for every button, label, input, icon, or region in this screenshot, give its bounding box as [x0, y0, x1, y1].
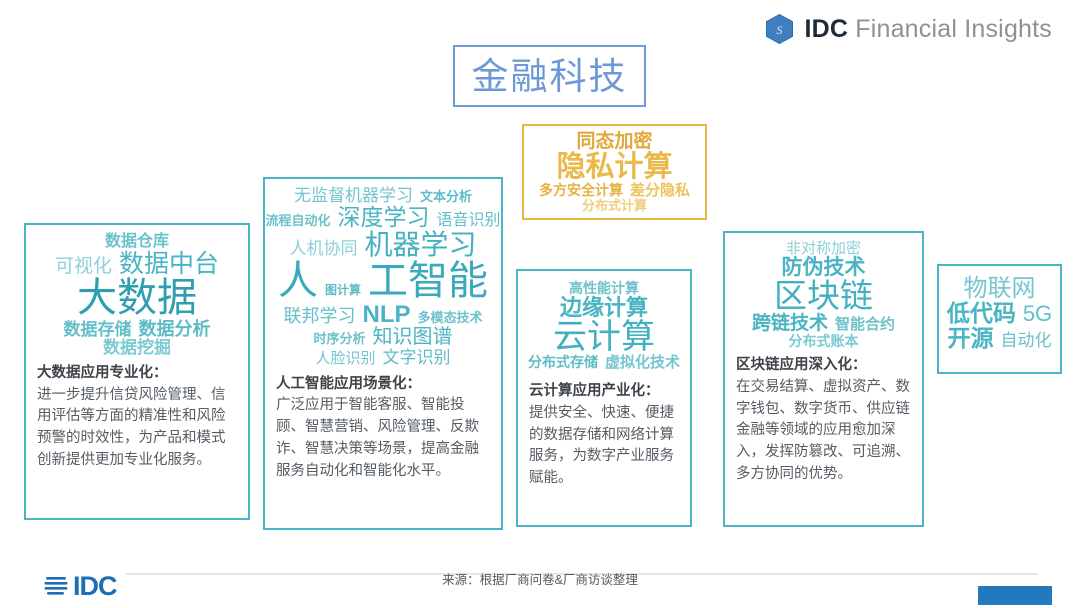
wordcloud-big-data: 数据仓库可视化数据中台大数据数据存储数据分析数据挖掘 [26, 225, 248, 357]
wordcloud-term: 工智能 [368, 260, 488, 302]
card-text-blockchain: 在交易结算、虚拟资产、数字钱包、数字货币、供应链金融等领域的应用愈加深入，发挥防… [736, 377, 911, 486]
idc-hexagon-logo-icon: S [766, 14, 793, 44]
wordcloud-line: 云计算 [518, 319, 690, 355]
brand-light-text: Financial Insights [848, 15, 1052, 43]
card-artificial-intelligence[interactable]: 无监督机器学习文本分析流程自动化深度学习语音识别人机协同机器学习人图计算工智能联… [263, 177, 503, 530]
footer-accent-block [978, 586, 1052, 605]
card-heading-cloud-computing: 云计算应用产业化： [529, 381, 679, 403]
card-body-big-data: 大数据应用专业化： 进一步提升信贷风险管理、信用评估等方面的精准性和风险预警的时… [26, 363, 248, 472]
wordcloud-term: 分布式账本 [789, 334, 859, 349]
wordcloud-line: 非对称加密 [725, 241, 922, 257]
wordcloud-line: 开源自动化 [939, 326, 1060, 350]
wordcloud-term: 无监督机器学习 [294, 187, 413, 205]
card-privacy-computing[interactable]: 同态加密隐私计算多方安全计算差分隐私分布式计算 [522, 124, 707, 220]
wordcloud-line: 人机协同机器学习 [265, 230, 501, 260]
wordcloud-line: 低代码5G [939, 301, 1060, 325]
wordcloud-term: 联邦学习 [283, 307, 355, 326]
wordcloud-term: 隐私计算 [556, 152, 672, 183]
wordcloud-line: 高性能计算 [518, 281, 690, 296]
card-iot-others[interactable]: 物联网低代码5G开源自动化 [937, 264, 1062, 374]
wordcloud-line: 人脸识别文字识别 [265, 349, 501, 367]
wordcloud-line: 边缘计算 [518, 296, 690, 319]
card-body-cloud-computing: 云计算应用产业化： 提供安全、快速、便捷的数据存储和网络计算服务，为数字产业服务… [518, 381, 690, 490]
wordcloud-term: 多方安全计算 [539, 183, 623, 198]
wordcloud-line: 分布式账本 [725, 334, 922, 349]
wordcloud-term: 大数据 [77, 277, 197, 319]
page-title: 金融科技 [453, 45, 646, 107]
wordcloud-line: 数据存储数据分析 [26, 320, 248, 339]
wordcloud-term: 分布式存储 [528, 355, 598, 370]
svg-text:S: S [777, 23, 783, 37]
wordcloud-term: 人脸识别 [315, 351, 375, 367]
card-cloud-computing[interactable]: 高性能计算边缘计算云计算分布式存储虚拟化技术 云计算应用产业化： 提供安全、快速… [516, 269, 692, 527]
card-heading-blockchain: 区块链应用深入化： [736, 355, 911, 377]
wordcloud-term: 物联网 [964, 276, 1036, 301]
wordcloud-term: 机器学习 [364, 230, 476, 260]
wordcloud-term: 开源 [948, 326, 994, 350]
wordcloud-privacy-computing: 同态加密隐私计算多方安全计算差分隐私分布式计算 [524, 126, 705, 213]
card-big-data[interactable]: 数据仓库可视化数据中台大数据数据存储数据分析数据挖掘 大数据应用专业化： 进一步… [24, 223, 250, 520]
wordcloud-line: 分布式存储虚拟化技术 [518, 355, 690, 371]
wordcloud-line: 人图计算工智能 [265, 260, 501, 302]
card-body-artificial-intelligence: 人工智能应用场景化： 广泛应用于智能客服、智能投顾、智慧营销、风险管理、反欺诈、… [265, 374, 501, 483]
wordcloud-term: 自动化 [1001, 332, 1052, 350]
wordcloud-term: 边缘计算 [560, 296, 648, 319]
wordcloud-term: NLP [362, 302, 410, 327]
wordcloud-term: 数据中台 [119, 251, 219, 278]
wordcloud-term: 5G [1023, 302, 1052, 325]
wordcloud-term: 跨链技术 [752, 314, 828, 334]
wordcloud-term: 数据分析 [139, 320, 211, 339]
wordcloud-line: 防伪技术 [725, 257, 922, 279]
wordcloud-term: 知识图谱 [373, 327, 453, 348]
card-heading-artificial-intelligence: 人工智能应用场景化： [276, 374, 490, 396]
wordcloud-term: 智能合约 [835, 317, 895, 333]
card-blockchain[interactable]: 非对称加密防伪技术区块链跨链技术智能合约分布式账本 区块链应用深入化： 在交易结… [723, 231, 924, 527]
wordcloud-line: 数据仓库 [26, 234, 248, 251]
card-text-artificial-intelligence: 广泛应用于智能客服、智能投顾、智慧营销、风险管理、反欺诈、智慧决策等场景，提高金… [276, 395, 490, 482]
wordcloud-term: 云计算 [553, 319, 655, 355]
wordcloud-term: 多模态技术 [417, 311, 482, 325]
wordcloud-line: 多方安全计算差分隐私 [524, 183, 705, 199]
wordcloud-term: 深度学习 [338, 205, 430, 229]
wordcloud-term: 分布式计算 [582, 199, 647, 213]
wordcloud-line: 分布式计算 [524, 199, 705, 213]
wordcloud-term: 非对称加密 [786, 241, 861, 257]
wordcloud-line: 数据挖掘 [26, 339, 248, 357]
wordcloud-term: 时序分析 [313, 332, 365, 346]
wordcloud-line: 大数据 [26, 277, 248, 319]
brand-wordmark: IDC Financial Insights [804, 15, 1052, 44]
wordcloud-line: 联邦学习NLP多模态技术 [265, 302, 501, 327]
wordcloud-term: 文字识别 [383, 349, 451, 367]
wordcloud-term: 数据挖掘 [103, 339, 171, 357]
wordcloud-line: 流程自动化深度学习语音识别 [265, 205, 501, 230]
wordcloud-line: 可视化数据中台 [26, 251, 248, 278]
wordcloud-line: 隐私计算 [524, 152, 705, 183]
wordcloud-iot-others: 物联网低代码5G开源自动化 [939, 266, 1060, 350]
wordcloud-line: 跨链技术智能合约 [725, 314, 922, 334]
wordcloud-line: 时序分析知识图谱 [265, 327, 501, 348]
wordcloud-term: 防伪技术 [782, 257, 866, 279]
wordcloud-term: 虚拟化技术 [605, 355, 680, 371]
card-text-cloud-computing: 提供安全、快速、便捷的数据存储和网络计算服务，为数字产业服务赋能。 [529, 403, 679, 490]
wordcloud-term: 数据仓库 [105, 234, 169, 251]
wordcloud-term: 低代码 [947, 301, 1016, 325]
idc-financial-insights-brand: S IDC Financial Insights [766, 14, 1052, 44]
wordcloud-term: 数据存储 [64, 321, 132, 339]
slide-canvas: S IDC Financial Insights 金融科技 数据仓库可视化数据中… [0, 0, 1080, 608]
wordcloud-term: 可视化 [55, 257, 112, 277]
wordcloud-term: 流程自动化 [265, 214, 330, 228]
card-text-big-data: 进一步提升信贷风险管理、信用评估等方面的精准性和风险预警的时效性，为产品和模式创… [37, 385, 237, 472]
wordcloud-term: 高性能计算 [569, 281, 639, 296]
wordcloud-line: 无监督机器学习文本分析 [265, 187, 501, 205]
wordcloud-term: 人机协同 [289, 240, 357, 258]
wordcloud-artificial-intelligence: 无监督机器学习文本分析流程自动化深度学习语音识别人机协同机器学习人图计算工智能联… [265, 179, 501, 367]
wordcloud-term: 人 [278, 260, 318, 302]
wordcloud-term: 区块链 [774, 279, 873, 314]
card-heading-big-data: 大数据应用专业化： [37, 363, 237, 385]
brand-bold-text: IDC [804, 15, 848, 43]
wordcloud-term: 语音识别 [437, 213, 501, 230]
wordcloud-line: 物联网 [939, 276, 1060, 301]
wordcloud-term: 图计算 [325, 284, 361, 297]
source-note: 来源：根据厂商问卷&厂商访谈整理 [0, 569, 1080, 588]
wordcloud-line: 同态加密 [524, 132, 705, 152]
wordcloud-term: 同态加密 [576, 132, 652, 152]
page-title-text: 金融科技 [472, 58, 628, 95]
wordcloud-term: 文本分析 [420, 190, 472, 204]
wordcloud-blockchain: 非对称加密防伪技术区块链跨链技术智能合约分布式账本 [725, 233, 922, 349]
wordcloud-term: 差分隐私 [630, 183, 690, 199]
card-body-blockchain: 区块链应用深入化： 在交易结算、虚拟资产、数字钱包、数字货币、供应链金融等领域的… [725, 355, 922, 486]
wordcloud-cloud-computing: 高性能计算边缘计算云计算分布式存储虚拟化技术 [518, 271, 690, 371]
wordcloud-line: 区块链 [725, 279, 922, 314]
